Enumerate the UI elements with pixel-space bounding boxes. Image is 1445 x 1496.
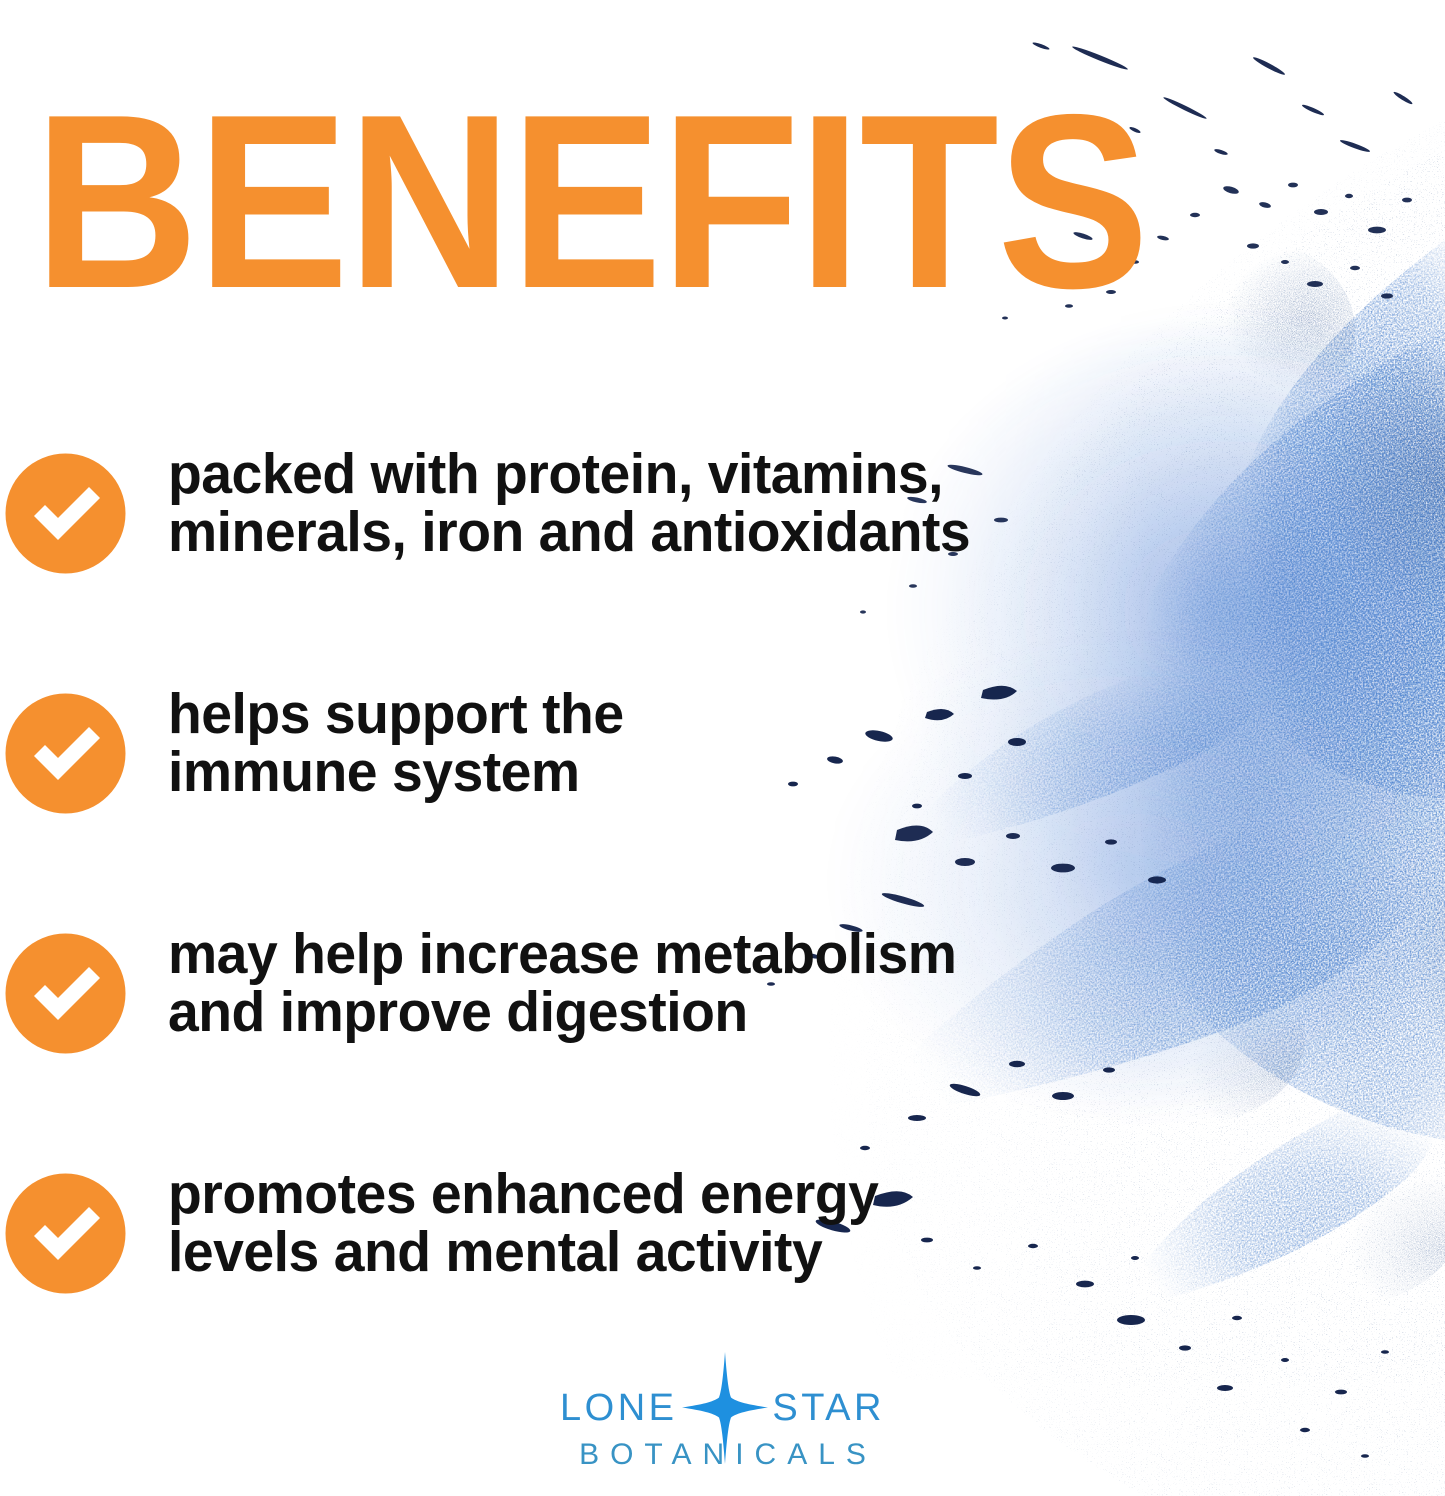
page-title: BENEFITS xyxy=(34,96,1148,307)
check-circle-icon xyxy=(5,453,126,574)
four-point-star-icon xyxy=(682,1382,768,1434)
check-circle-icon xyxy=(5,933,126,1054)
list-item-label: promotes enhanced energy levels and ment… xyxy=(168,1165,878,1281)
list-item-label: helps support the immune system xyxy=(168,685,624,801)
list-item: helps support the immune system xyxy=(0,685,1200,925)
list-item: packed with protein, vitamins, minerals,… xyxy=(0,445,1200,685)
logo-word-star: STAR xyxy=(772,1387,885,1429)
benefits-infographic: BENEFITS packed with protein, vitamins, … xyxy=(0,0,1445,1496)
check-circle-icon xyxy=(5,1173,126,1294)
benefits-list: packed with protein, vitamins, minerals,… xyxy=(0,445,1200,1405)
logo-wordmark: LONE STAR xyxy=(560,1382,885,1434)
list-item: may help increase metabolism and improve… xyxy=(0,925,1200,1165)
brand-logo: LONE STAR BOTANICALS xyxy=(0,1382,1445,1472)
check-circle-icon xyxy=(5,693,126,814)
list-item-label: may help increase metabolism and improve… xyxy=(168,925,956,1041)
logo-word-lone: LONE xyxy=(560,1387,677,1429)
list-item-label: packed with protein, vitamins, minerals,… xyxy=(168,445,970,561)
list-item: promotes enhanced energy levels and ment… xyxy=(0,1165,1200,1405)
